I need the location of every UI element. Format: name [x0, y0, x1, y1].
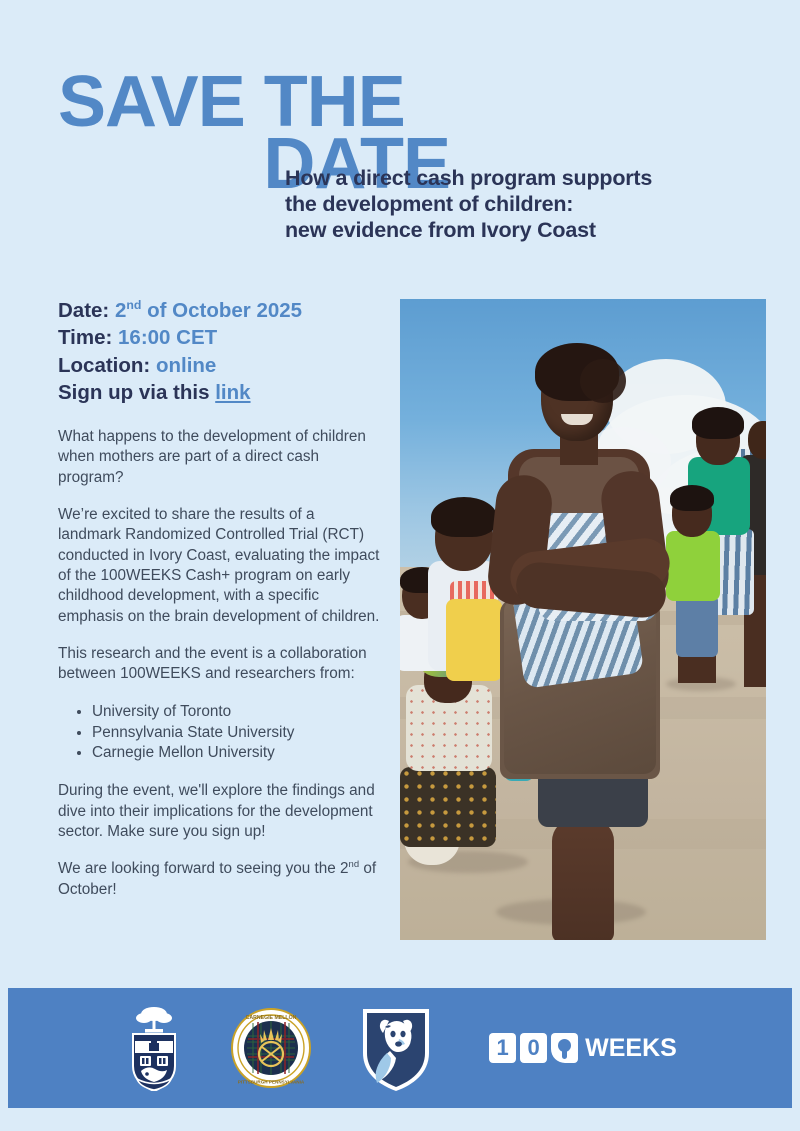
poster-body-copy: What happens to the development of child…	[58, 427, 380, 917]
poster-root: SAVE THE DATE How a direct cash program …	[0, 0, 800, 1131]
subtitle-line-3: new evidence from Ivory Coast	[285, 217, 755, 243]
100weeks-digit-2: 0	[520, 1033, 547, 1063]
date-number: 2	[115, 299, 126, 322]
child-green-hair	[670, 485, 714, 511]
child-on-back-hair	[431, 497, 497, 537]
seal-top-text: CARNEGIE MELLON	[246, 1015, 297, 1021]
partner-list: University of Toronto Pennsylvania State…	[58, 702, 380, 764]
woman-teal-hair	[692, 407, 744, 439]
university-of-toronto-crest-icon	[123, 1005, 185, 1091]
woman-hair-puff	[580, 359, 626, 403]
footer-logo-band: CARNEGIE MELLON PITTSBURGH PENNSYLVANIA	[8, 988, 792, 1108]
logo-carnegie-mellon-university: CARNEGIE MELLON PITTSBURGH PENNSYLVANIA	[231, 1008, 311, 1088]
date-ordinal: nd	[126, 298, 141, 312]
signup-link[interactable]: link	[215, 381, 250, 404]
body-paragraph-3: This research and the event is a collabo…	[58, 644, 380, 685]
event-time-row: Time: 16:00 CET	[58, 324, 388, 351]
date-value: 2nd of October 2025	[115, 299, 302, 322]
child-green-shirt	[666, 531, 720, 601]
penn-state-shield-icon	[357, 1003, 435, 1093]
closing-number: 2	[340, 860, 349, 877]
list-item: Carnegie Mellon University	[92, 743, 380, 764]
100weeks-wordmark: WEEKS	[585, 1034, 677, 1063]
poster-header: SAVE THE DATE How a direct cash program …	[0, 0, 800, 270]
logo-penn-state	[357, 1003, 435, 1093]
time-value: 16:00 CET	[118, 326, 217, 349]
event-location-row: Location: online	[58, 352, 388, 379]
body-paragraph-5: We are looking forward to seeing you the…	[58, 859, 380, 900]
body-paragraph-4: During the event, we'll explore the find…	[58, 781, 380, 842]
time-label: Time:	[58, 326, 112, 349]
event-details: Date: 2nd of October 2025 Time: 16:00 CE…	[58, 297, 388, 406]
seated-woman-skirt	[400, 767, 496, 847]
child-on-back-yellow-cloth	[446, 599, 502, 681]
closing-ordinal: nd	[349, 859, 360, 870]
subtitle-line-2: the development of children:	[285, 191, 755, 217]
woman-leg	[552, 819, 614, 940]
date-label: Date:	[58, 299, 109, 322]
event-subtitle: How a direct cash program supports the d…	[285, 165, 755, 244]
list-item: University of Toronto	[92, 702, 380, 723]
signup-label: Sign up via this	[58, 381, 210, 404]
location-value: online	[156, 354, 216, 377]
location-label: Location:	[58, 354, 150, 377]
logo-university-of-toronto	[123, 1005, 185, 1091]
child-green-pants	[676, 595, 718, 657]
event-photo	[400, 299, 766, 940]
100weeks-pin-icon	[551, 1033, 578, 1063]
carnegie-mellon-university-seal-icon: CARNEGIE MELLON PITTSBURGH PENNSYLVANIA	[231, 1008, 311, 1088]
date-rest: of October 2025	[141, 299, 302, 322]
body-paragraph-1: What happens to the development of child…	[58, 427, 380, 488]
logo-100weeks: 1 0 WEEKS	[489, 1033, 677, 1063]
event-date-row: Date: 2nd of October 2025	[58, 297, 388, 324]
100weeks-digit-1: 1	[489, 1033, 516, 1063]
seal-bottom-text: PITTSBURGH PENNSYLVANIA	[238, 1080, 305, 1085]
subtitle-line-1: How a direct cash program supports	[285, 165, 755, 191]
list-item: Pennsylvania State University	[92, 723, 380, 744]
background-figure-head	[748, 421, 766, 459]
closing-text-1: We are looking forward to seeing you the	[58, 860, 340, 877]
body-paragraph-2: We’re excited to share the results of a …	[58, 505, 380, 627]
signup-row: Sign up via this link	[58, 379, 388, 406]
